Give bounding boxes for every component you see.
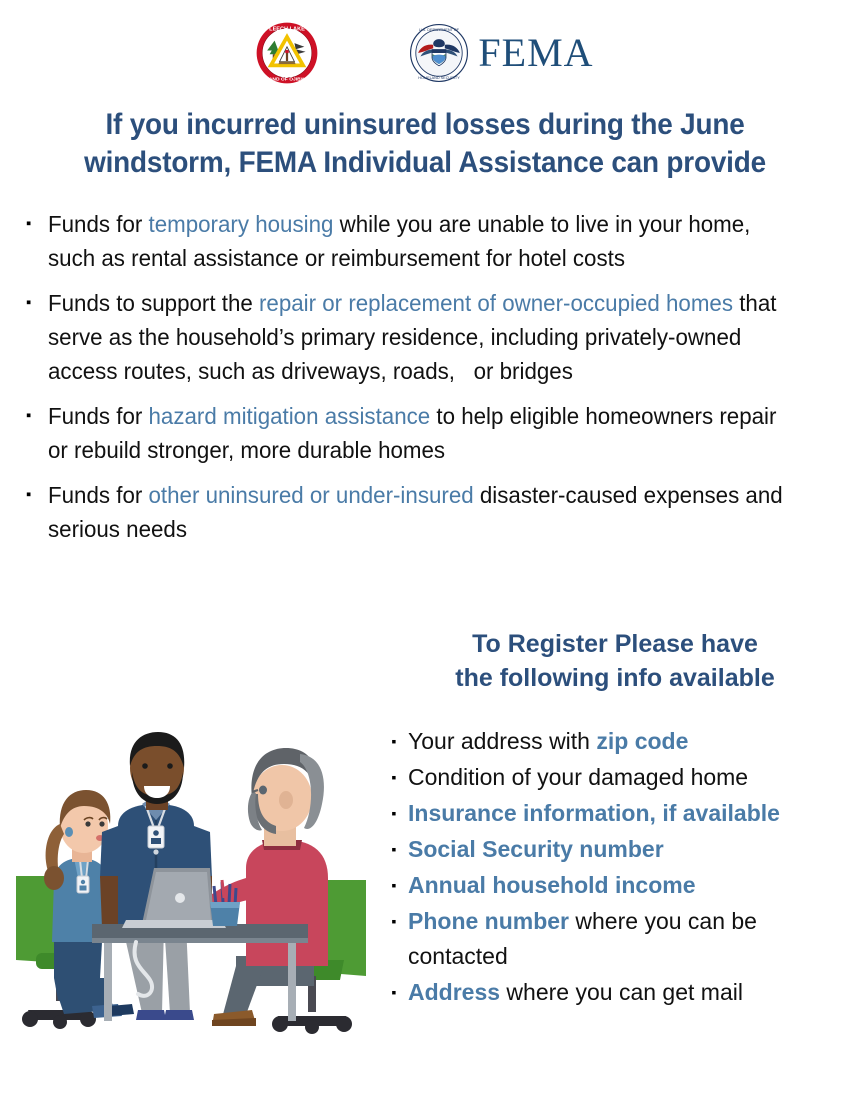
svg-text:U.S. DEPARTMENT OF: U.S. DEPARTMENT OF [419,28,460,32]
register-list-item: ▪Social Security number [380,832,850,867]
dhs-seal: U.S. DEPARTMENT OF HOMELAND SECURITY [410,24,468,82]
register-list-item-text: Annual household income [408,868,850,903]
bullet-square-icon: ▪ [380,868,408,903]
assistance-list-item: ▪Funds for hazard mitigation assistance … [22,399,836,467]
highlighted-phrase: temporary housing [149,211,334,237]
highlighted-phrase: hazard mitigation assistance [149,403,431,429]
register-list-item-text: Your address with zip code [408,724,850,759]
body-phrase: Funds to support the [48,290,259,316]
meeting-scene-svg [14,728,384,1058]
highlighted-phrase: other uninsured or under-insured [149,482,474,508]
body-phrase: Funds for [48,211,149,237]
register-list-item-text: Address where you can get mail [408,975,850,1010]
body-phrase: where you can get mail [500,979,743,1005]
assistance-list-item: ▪Funds for temporary housing while you a… [22,207,836,275]
svg-text:LEECH LAKE: LEECH LAKE [270,27,306,33]
bullet-square-icon: ▪ [380,796,408,831]
register-section: To Register Please have the following in… [0,628,850,1098]
highlighted-phrase: zip code [596,728,688,754]
assistance-list-item: ▪Funds to support the repair or replacem… [22,286,836,388]
highlighted-phrase: repair or replacement of owner-occupied … [259,290,733,316]
highlighted-phrase: Annual household income [408,872,696,898]
bullet-square-icon: ▪ [22,399,48,433]
highlighted-phrase: Phone number [408,908,569,934]
assistance-list: ▪Funds for temporary housing while you a… [0,207,850,546]
fema-intake-meeting-illustration [14,728,384,1058]
register-list-item: ▪Your address with zip code [380,724,850,759]
page-title-line-1: If you incurred uninsured losses during … [41,106,809,144]
register-list-item-text: Phone number where you can be contacted [408,904,850,974]
bullet-square-icon: ▪ [380,904,408,939]
register-list-item: ▪Phone number where you can be contacted [380,904,850,974]
register-title-line-2: the following info available [380,662,850,696]
register-info-list: ▪Your address with zip code▪Condition of… [380,724,850,1010]
page-title: If you incurred uninsured losses during … [30,98,821,181]
leech-lake-band-of-ojibwe-seal: LEECH LAKE BAND OF OJIBWE [256,22,318,84]
logo-header: LEECH LAKE BAND OF OJIBWE U.S. DEPARTMEN… [0,0,850,98]
bullet-square-icon: ▪ [22,286,48,320]
bullet-square-icon: ▪ [22,478,48,512]
register-list-item-text: Social Security number [408,832,850,867]
body-phrase: Condition of your damaged home [408,764,748,790]
highlighted-phrase: Address [408,979,500,1005]
body-phrase: Funds for [48,482,149,508]
register-content: To Register Please have the following in… [380,628,850,1011]
svg-text:HOMELAND SECURITY: HOMELAND SECURITY [419,76,461,80]
bullet-square-icon: ▪ [380,975,408,1010]
assistance-list-item: ▪Funds for other uninsured or under-insu… [22,478,836,546]
assistance-list-item-text: Funds for temporary housing while you ar… [48,207,797,275]
bullet-square-icon: ▪ [22,207,48,241]
bullet-square-icon: ▪ [380,760,408,795]
register-list-item: ▪Condition of your damaged home [380,760,850,795]
highlighted-phrase: Social Security number [408,836,664,862]
register-list-item-text: Insurance information, if available [408,796,850,831]
register-list-item: ▪Insurance information, if available [380,796,850,831]
register-title-line-1: To Register Please have [380,628,850,662]
leech-lake-logo-group: LEECH LAKE BAND OF OJIBWE [256,22,318,84]
register-list-item-text: Condition of your damaged home [408,760,850,795]
register-list-item: ▪Annual household income [380,868,850,903]
body-phrase: Funds for [48,403,149,429]
svg-text:BAND OF OJIBWE: BAND OF OJIBWE [266,76,310,82]
assistance-list-item-text: Funds for hazard mitigation assistance t… [48,399,797,467]
highlighted-phrase: Insurance information, if available [408,800,780,826]
register-list-item: ▪Address where you can get mail [380,975,850,1010]
bullet-square-icon: ▪ [380,832,408,867]
assistance-list-item-text: Funds to support the repair or replaceme… [48,286,797,388]
register-title: To Register Please have the following in… [380,628,850,696]
fema-wordmark: FEMA [478,33,593,73]
page-title-line-2: windstorm, FEMA Individual Assistance ca… [41,144,809,182]
body-phrase: Your address with [408,728,596,754]
assistance-list-item-text: Funds for other uninsured or under-insur… [48,478,797,546]
bullet-square-icon: ▪ [380,724,408,759]
fema-logo-group: U.S. DEPARTMENT OF HOMELAND SECURITY FEM… [410,24,593,82]
